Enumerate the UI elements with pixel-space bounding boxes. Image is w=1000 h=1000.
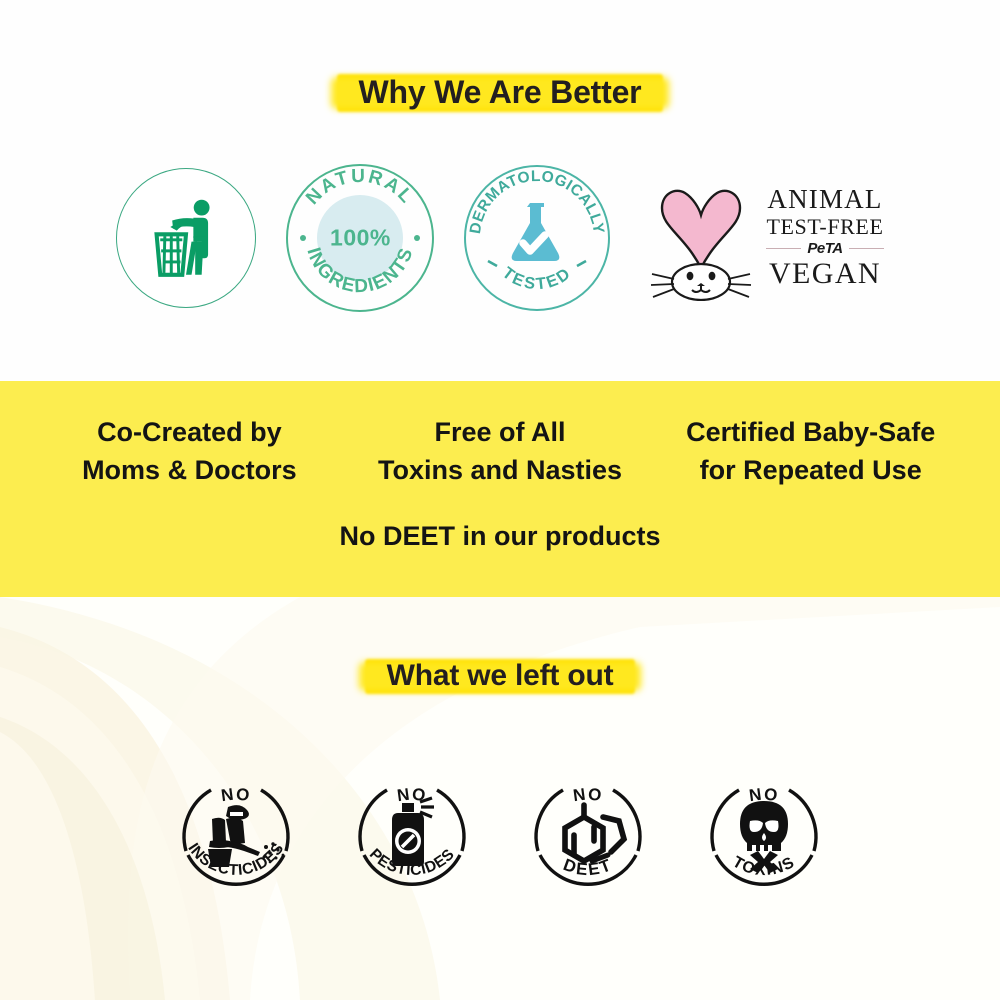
badge-no-toxins: NO TOXINS bbox=[694, 755, 834, 915]
claim-baby-safe: Certified Baby-Safe for Repeated Use bbox=[655, 413, 966, 490]
badge-no-insecticides: NO INSECTICIDES bbox=[166, 755, 306, 915]
excluded-ingredient-badge-row: NO INSECTICIDES bbox=[0, 745, 1000, 925]
svg-text:INGREDIENTS: INGREDIENTS bbox=[303, 244, 418, 297]
badge-no-pesticides: NO PESTICIDES bbox=[342, 755, 482, 915]
peta-brand-label: PeTA bbox=[801, 241, 848, 256]
page-title: Why We Are Better bbox=[337, 70, 664, 117]
claims-columns: Co-Created by Moms & Doctors Free of All… bbox=[0, 413, 1000, 490]
section-yellow-claims: Co-Created by Moms & Doctors Free of All… bbox=[0, 381, 1000, 597]
peta-line-animal: ANIMAL bbox=[767, 186, 882, 213]
promo-infographic: Why We Are Better bbox=[0, 0, 1000, 1000]
claim-baby-safe-line1: Certified Baby-Safe bbox=[655, 413, 966, 451]
no-toxins-seal: NO TOXINS bbox=[694, 755, 834, 915]
claim-free-of-toxins-line1: Free of All bbox=[345, 413, 656, 451]
peta-text-block: ANIMAL TEST-FREE PeTA VEGAN bbox=[766, 186, 883, 289]
svg-text:NO: NO bbox=[572, 785, 604, 806]
peta-bunny-heart-icon bbox=[644, 175, 760, 301]
no-deet-seal: NO DEET bbox=[518, 755, 658, 915]
natural-percentage-value: 100% bbox=[330, 224, 391, 251]
claim-co-created-line2: Moms & Doctors bbox=[34, 451, 345, 489]
claim-no-deet-text: No DEET in our products bbox=[0, 521, 1000, 552]
badge-dispose-properly bbox=[116, 168, 256, 308]
peta-rule-right bbox=[849, 248, 884, 249]
claim-free-of-toxins-line2: Toxins and Nasties bbox=[345, 451, 656, 489]
peta-line-test-free: TEST-FREE bbox=[766, 216, 883, 238]
peta-brand-row: PeTA bbox=[766, 241, 883, 256]
claim-co-created: Co-Created by Moms & Doctors bbox=[34, 413, 345, 490]
badge-natural-ingredients: NATURAL INGREDIENTS 100% bbox=[286, 164, 434, 312]
svg-text:NATURAL: NATURAL bbox=[303, 165, 419, 208]
svg-text:TOXINS: TOXINS bbox=[730, 854, 799, 880]
claim-free-of-toxins: Free of All Toxins and Nasties bbox=[345, 413, 656, 490]
claim-baby-safe-line2: for Repeated Use bbox=[655, 451, 966, 489]
badge-peta-vegan: ANIMAL TEST-FREE PeTA VEGAN bbox=[644, 175, 883, 301]
deet-molecule-icon bbox=[565, 805, 624, 861]
why-we-are-better-heading-wrap: Why We Are Better bbox=[0, 70, 1000, 117]
claim-no-deet: No DEET in our products bbox=[0, 521, 1000, 552]
section-why-we-are-better: Why We Are Better bbox=[0, 0, 1000, 381]
tidyman-dispose-icon bbox=[140, 192, 232, 284]
trust-badge-row: NATURAL INGREDIENTS 100% bbox=[0, 160, 1000, 315]
peta-rule-left bbox=[766, 248, 801, 249]
no-insecticides-seal: NO INSECTICIDES bbox=[166, 755, 306, 915]
spray-can-prohibited-icon bbox=[392, 798, 434, 866]
section-title-what-we-left-out: What we left out bbox=[365, 655, 636, 699]
no-pesticides-seal: NO PESTICIDES bbox=[342, 755, 482, 915]
dispose-badge-ring bbox=[116, 168, 256, 308]
claim-co-created-line1: Co-Created by bbox=[34, 413, 345, 451]
svg-text:NO: NO bbox=[220, 785, 252, 806]
badge-dermatologically-tested: DERMATOLOGICALLY TESTED bbox=[464, 165, 610, 311]
flask-check-icon bbox=[464, 165, 610, 311]
peta-line-vegan: VEGAN bbox=[769, 259, 881, 289]
what-we-left-out-heading-wrap: What we left out bbox=[0, 655, 1000, 699]
badge-no-deet: NO DEET bbox=[518, 755, 658, 915]
